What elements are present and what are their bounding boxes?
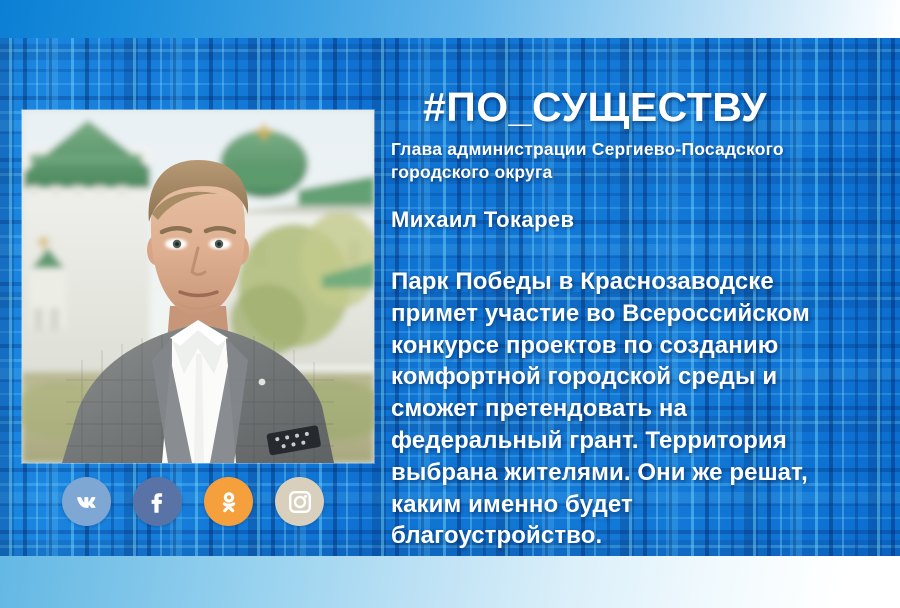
portrait-photo <box>22 110 374 463</box>
quote-line: Парк Победы в Краснозаводске <box>391 266 861 298</box>
social-media-info-card: #ПО_СУЩЕСТВУ Глава администрации Сергиев… <box>0 0 900 608</box>
quote-line: конкурсе проектов по созданию <box>391 330 861 362</box>
vk-icon <box>73 488 101 516</box>
quote-line: благоустройство. <box>391 520 861 552</box>
vk-link[interactable] <box>62 477 111 526</box>
quote-body-text: Парк Победы в Краснозаводске примет учас… <box>391 266 861 552</box>
odnoklassniki-link[interactable] <box>204 477 253 526</box>
quote-line: примет участие во Всероссийском <box>391 298 861 330</box>
quote-line: федеральный грант. Территория <box>391 425 861 457</box>
odnoklassniki-icon <box>216 489 242 515</box>
top-gradient-band <box>0 0 900 38</box>
quote-line: каким именно будет <box>391 489 861 521</box>
facebook-icon <box>144 488 172 516</box>
page-title-hashtag: #ПО_СУЩЕСТВУ <box>423 84 767 131</box>
instagram-icon <box>287 489 313 515</box>
bottom-gradient-band <box>0 556 900 608</box>
instagram-link[interactable] <box>275 477 324 526</box>
person-role-subtitle: Глава администрации Сергиево-Посадского … <box>391 138 831 184</box>
person-name: Михаил Токарев <box>391 207 574 233</box>
quote-line: сможет претендовать на <box>391 393 861 425</box>
quote-line: выбрана жителями. Они же решат, <box>391 457 861 489</box>
social-links-row <box>62 477 324 526</box>
quote-line: комфортной городской среды и <box>391 361 861 393</box>
facebook-link[interactable] <box>133 477 182 526</box>
